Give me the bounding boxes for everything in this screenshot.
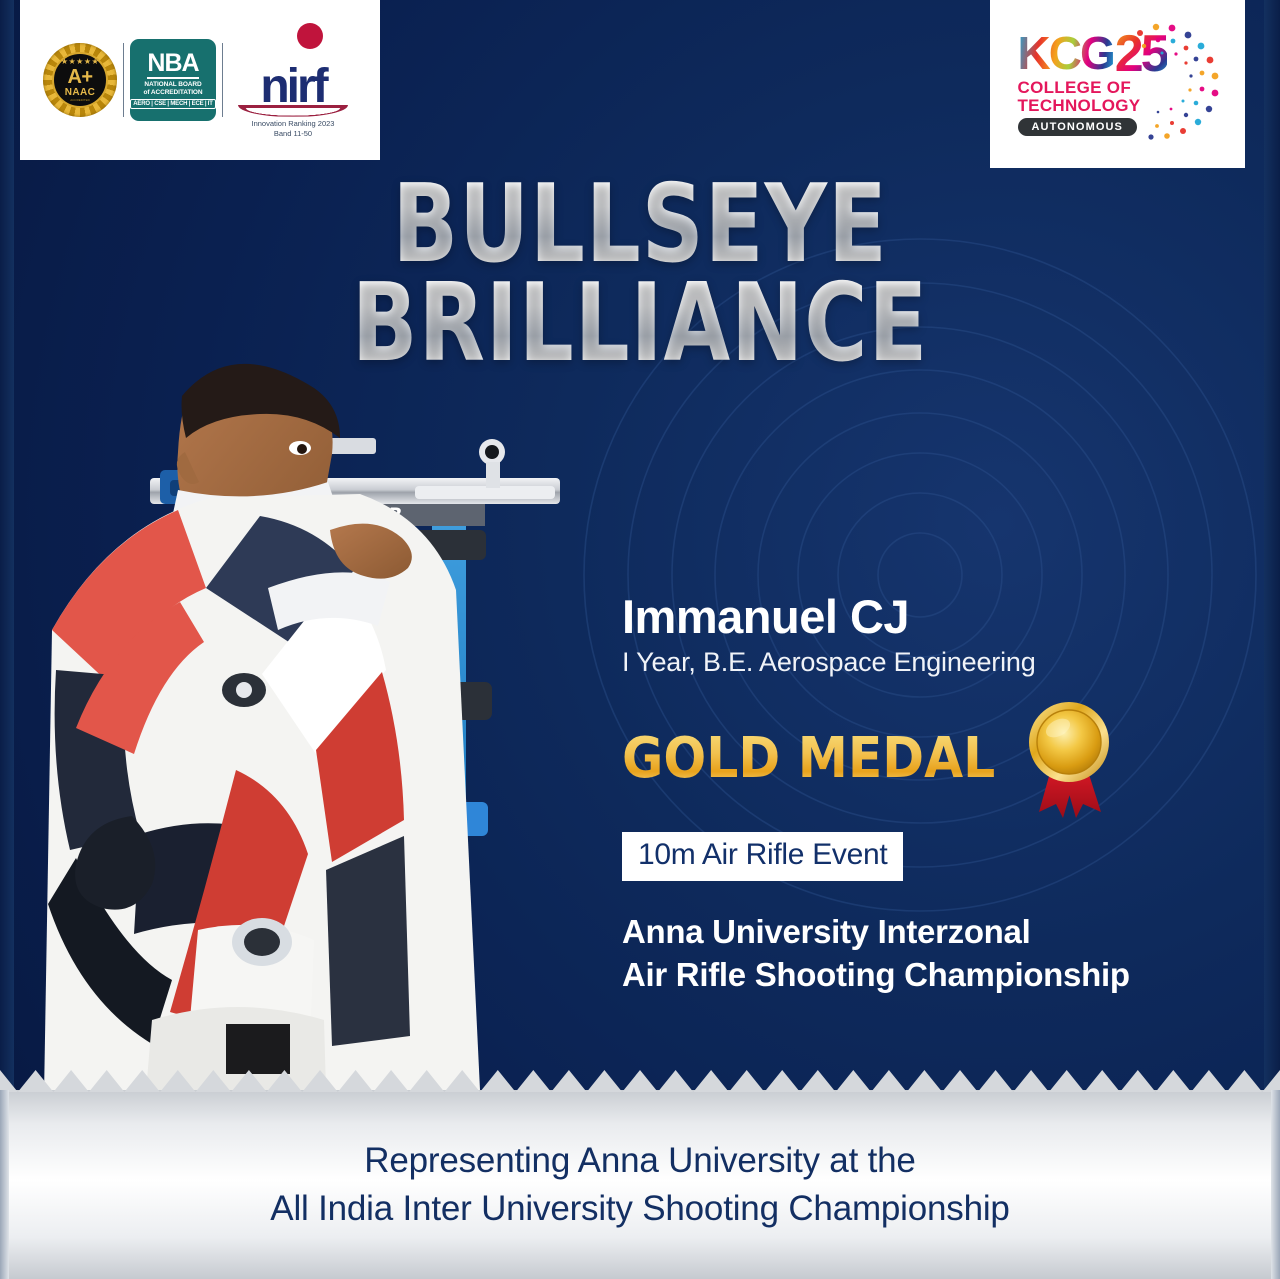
naac-stars: ★★★★★ <box>61 58 99 66</box>
nirf-wordmark: nirf <box>260 67 325 106</box>
athlete-photo: WALTHER <box>0 330 560 1090</box>
footer-right-edge <box>1271 1090 1280 1279</box>
zigzag-divider <box>0 1060 1280 1092</box>
nirf-logo-icon: nirf Innovation Ranking 2023 Band 11-50 <box>229 21 357 139</box>
footer-line1: Representing Anna University at the <box>364 1137 915 1184</box>
poster-canvas: ★★★★★ A+ NAAC ACCREDITED NBA NATIONAL BO… <box>0 0 1280 1279</box>
nba-abbreviation: NBA <box>147 51 198 79</box>
nirf-sun-icon <box>299 25 321 47</box>
nirf-ranking-line1: Innovation Ranking 2023 <box>252 119 335 128</box>
naac-grade: A+ <box>67 67 92 87</box>
logo-divider-2 <box>222 43 223 117</box>
championship-line1: Anna University Interzonal <box>622 911 1222 953</box>
nba-logo-icon: NBA NATIONAL BOARD of ACCREDITATION AERO… <box>130 39 216 121</box>
naac-badge-icon: ★★★★★ A+ NAAC ACCREDITED <box>43 43 117 117</box>
nirf-ranking-line2: Band 11-50 <box>274 129 312 138</box>
naac-label: NAAC <box>65 88 96 98</box>
nba-accredited-programs: AERO | CSE | MECH | ECE | IT <box>130 99 215 109</box>
naac-badge-inner: ★★★★★ A+ NAAC ACCREDITED <box>52 52 108 108</box>
logo-divider-1 <box>123 43 124 117</box>
championship-line2: Air Rifle Shooting Championship <box>622 954 1222 996</box>
accreditation-logo-strip: ★★★★★ A+ NAAC ACCREDITED NBA NATIONAL BO… <box>20 0 380 160</box>
athlete-name: Immanuel CJ <box>622 592 1222 641</box>
naac-accredited-text: ACCREDITED <box>70 99 90 102</box>
athlete-info-block: Immanuel CJ I Year, B.E. Aerospace Engin… <box>622 592 1222 996</box>
gold-medal-icon <box>1023 700 1115 818</box>
footer-banner: Representing Anna University at the All … <box>0 1090 1280 1279</box>
nba-full-name: NATIONAL BOARD of ACCREDITATION <box>144 81 203 96</box>
nirf-book-icon <box>238 105 348 117</box>
championship-name: Anna University Interzonal Air Rifle Sho… <box>622 911 1222 995</box>
kcg-mark: KCG <box>1018 32 1114 74</box>
navy-right-border <box>1264 0 1280 1090</box>
footer-line2: All India Inter University Shooting Cham… <box>270 1185 1009 1232</box>
kcg-halftone-swoosh-icon <box>1110 19 1230 149</box>
event-name-chip: 10m Air Rifle Event <box>622 832 903 881</box>
award-row: GOLD MEDAL <box>622 700 1222 818</box>
kcg-logo-icon: KCG 25 COLLEGE OF TECHNOLOGY AUTONOMOUS <box>1000 15 1236 153</box>
athlete-department: I Year, B.E. Aerospace Engineering <box>622 647 1222 678</box>
award-title: GOLD MEDAL <box>622 731 995 787</box>
nirf-ranking-caption: Innovation Ranking 2023 Band 11-50 <box>252 119 335 139</box>
footer-left-edge <box>0 1090 9 1279</box>
kcg-logo-box: KCG 25 COLLEGE OF TECHNOLOGY AUTONOMOUS <box>990 0 1245 168</box>
shooting-jacket <box>44 494 480 1090</box>
